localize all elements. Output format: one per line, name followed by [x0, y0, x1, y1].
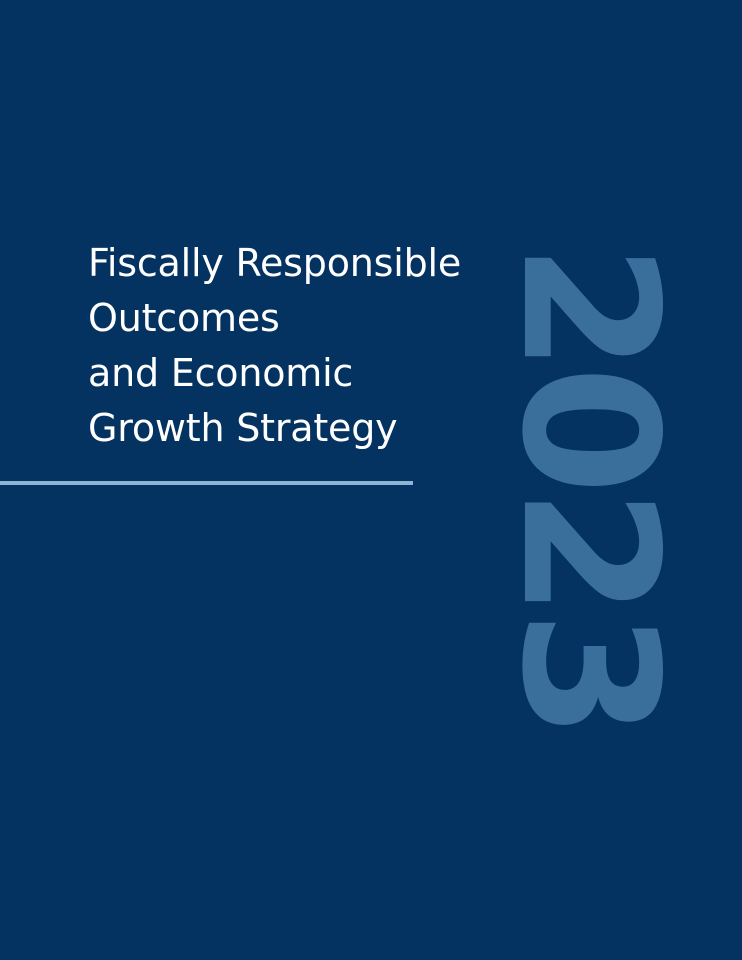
document-cover: 2023 Fiscally Responsible Outcomes and E…: [0, 0, 742, 960]
title-line-2: Outcomes: [88, 291, 608, 346]
title-line-1: Fiscally Responsible: [88, 236, 608, 291]
cover-title-block: Fiscally Responsible Outcomes and Econom…: [88, 236, 608, 456]
title-divider-rule: [0, 481, 413, 485]
title-line-3: and Economic: [88, 346, 608, 401]
year-watermark-container: 2023: [0, 0, 742, 960]
title-line-4: Growth Strategy: [88, 401, 608, 456]
